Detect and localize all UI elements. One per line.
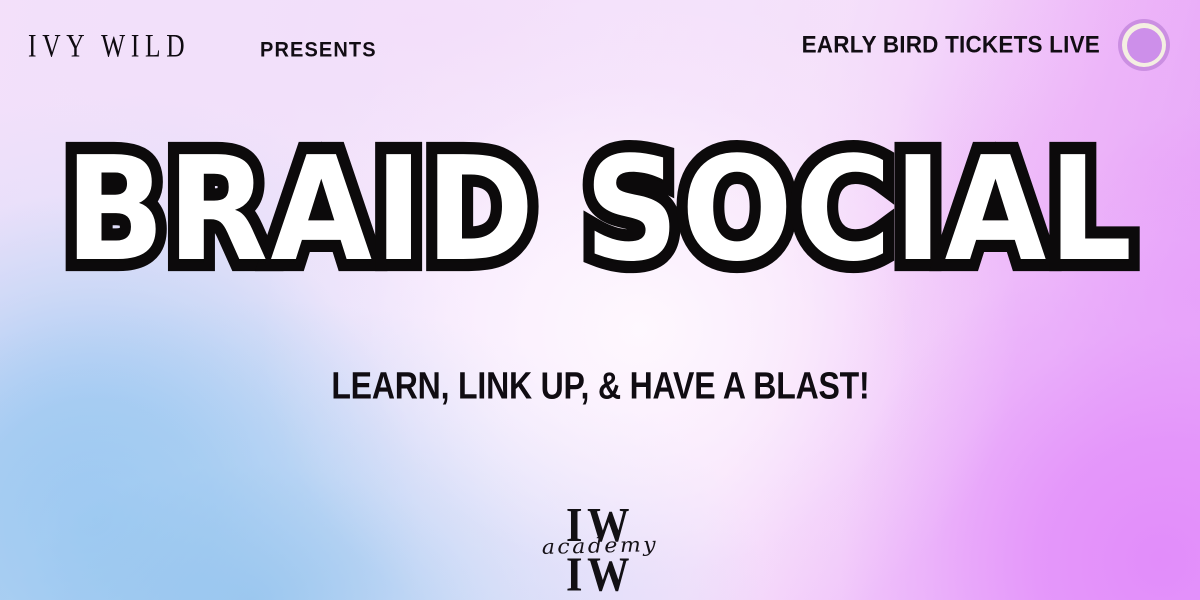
ticket-announcement-text: EARLY BIRD TICKETS LIVE bbox=[802, 33, 1100, 57]
subtitle-container: LEARN, LINK UP, & HAVE A BLAST! bbox=[0, 366, 1200, 399]
brand-logo: IVY WILD bbox=[28, 29, 190, 62]
poster-header: IVY WILD PRESENTS EARLY BIRD TICKETS LIV… bbox=[0, 0, 1200, 90]
monogram-stack: IW academy IW bbox=[535, 500, 665, 600]
circle-badge-core bbox=[1127, 28, 1162, 63]
event-poster: IVY WILD PRESENTS EARLY BIRD TICKETS LIV… bbox=[0, 0, 1200, 600]
ticket-announcement-group: EARLY BIRD TICKETS LIVE bbox=[802, 19, 1170, 71]
event-title: BRAID SOCIAL bbox=[65, 136, 1135, 286]
headline-container: BRAID SOCIAL bbox=[0, 136, 1200, 265]
circle-badge-ring bbox=[1122, 23, 1166, 67]
circle-badge-icon bbox=[1118, 19, 1170, 71]
event-subtitle: LEARN, LINK UP, & HAVE A BLAST! bbox=[331, 366, 869, 404]
academy-monogram-logo: IW academy IW bbox=[0, 500, 1200, 600]
brand-group: IVY WILD PRESENTS bbox=[28, 30, 377, 61]
presents-label: PRESENTS bbox=[260, 39, 377, 60]
monogram-bottom-initials: IW bbox=[540, 551, 660, 599]
